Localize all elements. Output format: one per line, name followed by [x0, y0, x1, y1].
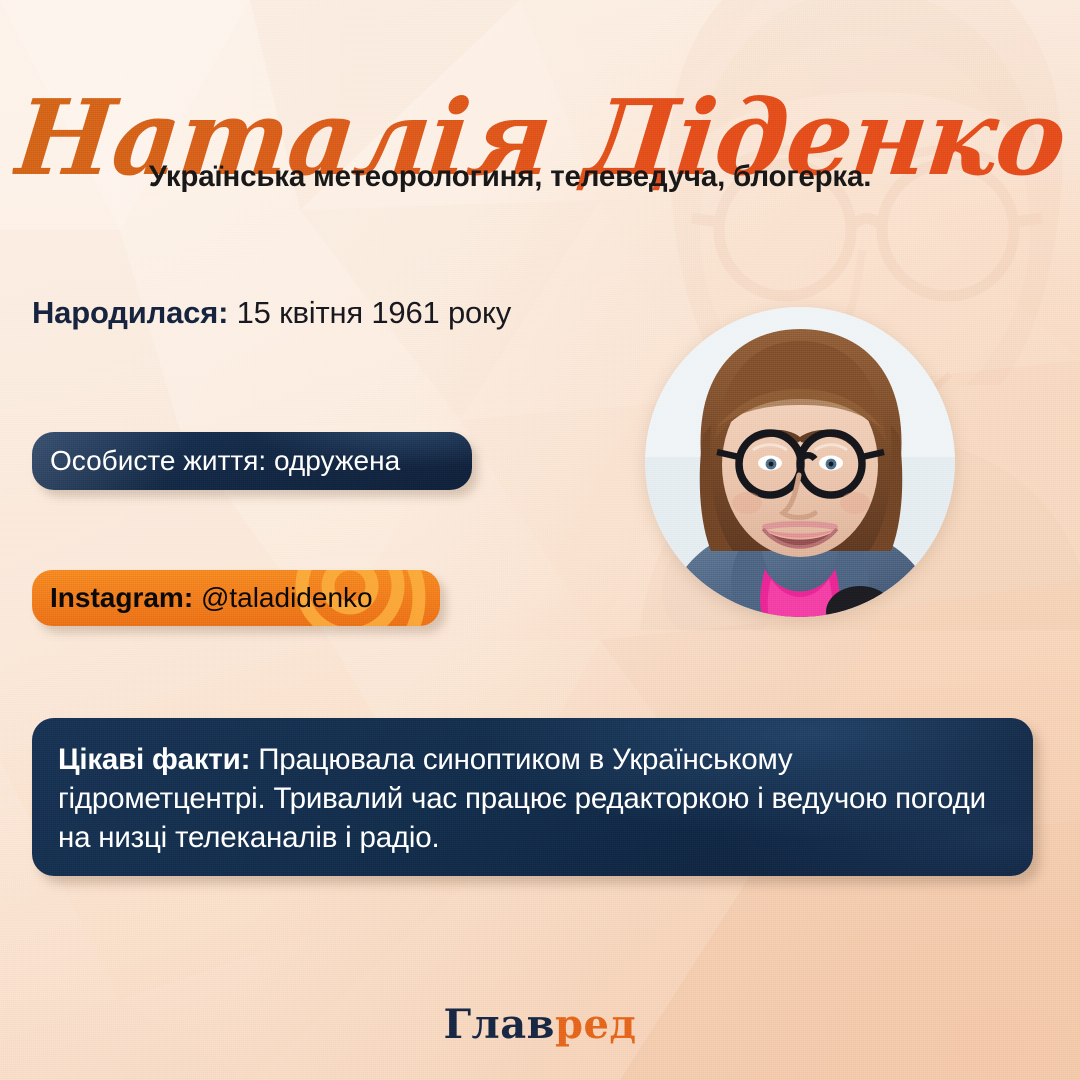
badge-instagram-text: Instagram: @taladidenko — [50, 582, 373, 614]
badge-personal-life-label: Особисте життя: одружена — [50, 445, 400, 477]
facts-panel: Цікаві факти: Працювала синоптиком в Укр… — [32, 718, 1033, 876]
poster-title-wrapper: Наталія Діденко — [0, 14, 1080, 262]
badge-instagram-handle: @taladidenko — [201, 582, 373, 613]
badge-personal-life[interactable]: Особисте життя: одружена — [32, 432, 472, 490]
infographic-poster: Наталія Діденко Українська метеорологиня… — [0, 0, 1080, 1080]
badge-instagram[interactable]: Instagram: @taladidenko — [32, 570, 440, 626]
brand-logo-part-dark: Глав — [443, 1001, 555, 1048]
born-label: Народилася: — [32, 295, 228, 330]
facts-label: Цікаві факти: — [58, 743, 250, 776]
born-line: Народилася: 15 квітня 1961 року — [32, 295, 511, 331]
poster-subtitle: Українська метеорологиня, телеведуча, бл… — [0, 160, 1020, 194]
portrait-illustration — [645, 307, 955, 617]
brand-logo[interactable]: Главред — [0, 1001, 1080, 1048]
born-value: 15 квітня 1961 року — [237, 295, 511, 330]
badge-instagram-label: Instagram: — [50, 582, 193, 613]
brand-logo-part-orange: ред — [555, 1001, 637, 1048]
portrait-photo — [645, 307, 955, 617]
